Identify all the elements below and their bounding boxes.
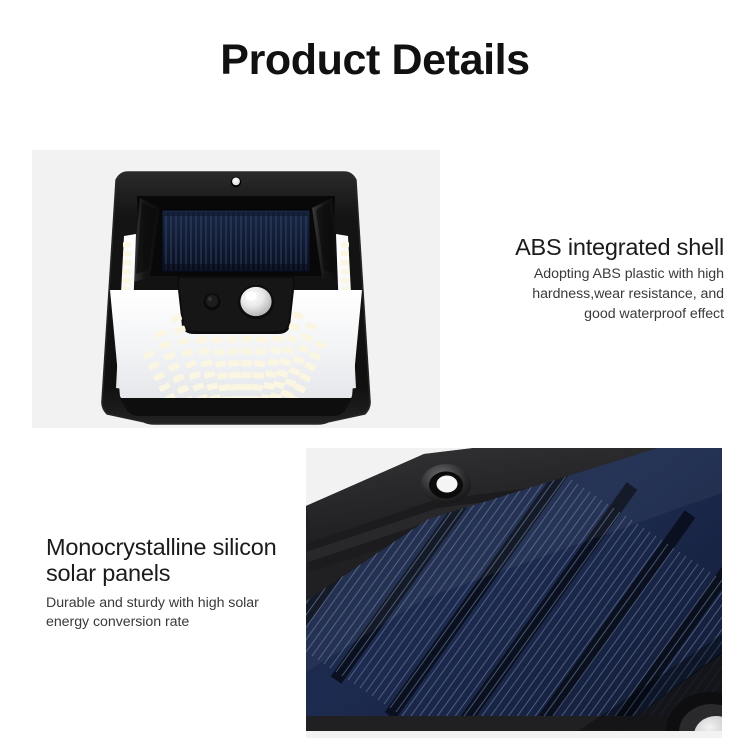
feature-body-abs-shell: Adopting ABS plastic with high hardness,… bbox=[452, 265, 724, 324]
lamp-front-illustration bbox=[32, 150, 440, 428]
feature-body-solar-panels: Durable and sturdy with high solar energ… bbox=[46, 594, 336, 633]
feature-heading-abs-shell: ABS integrated shell bbox=[452, 234, 724, 260]
feature-block-solar-panels: Monocrystalline silicon solar panels Dur… bbox=[46, 534, 336, 633]
feature-block-abs-shell: ABS integrated shell Adopting ABS plasti… bbox=[452, 234, 724, 324]
feature-heading-solar-panels: Monocrystalline silicon solar panels bbox=[46, 534, 336, 587]
mounting-hole-icon bbox=[421, 464, 471, 504]
product-photo-lamp-front bbox=[32, 150, 440, 428]
solar-panel-closeup-illustration bbox=[306, 448, 722, 738]
product-photo-solar-panel-closeup bbox=[306, 448, 722, 738]
page-title: Product Details bbox=[0, 38, 750, 83]
